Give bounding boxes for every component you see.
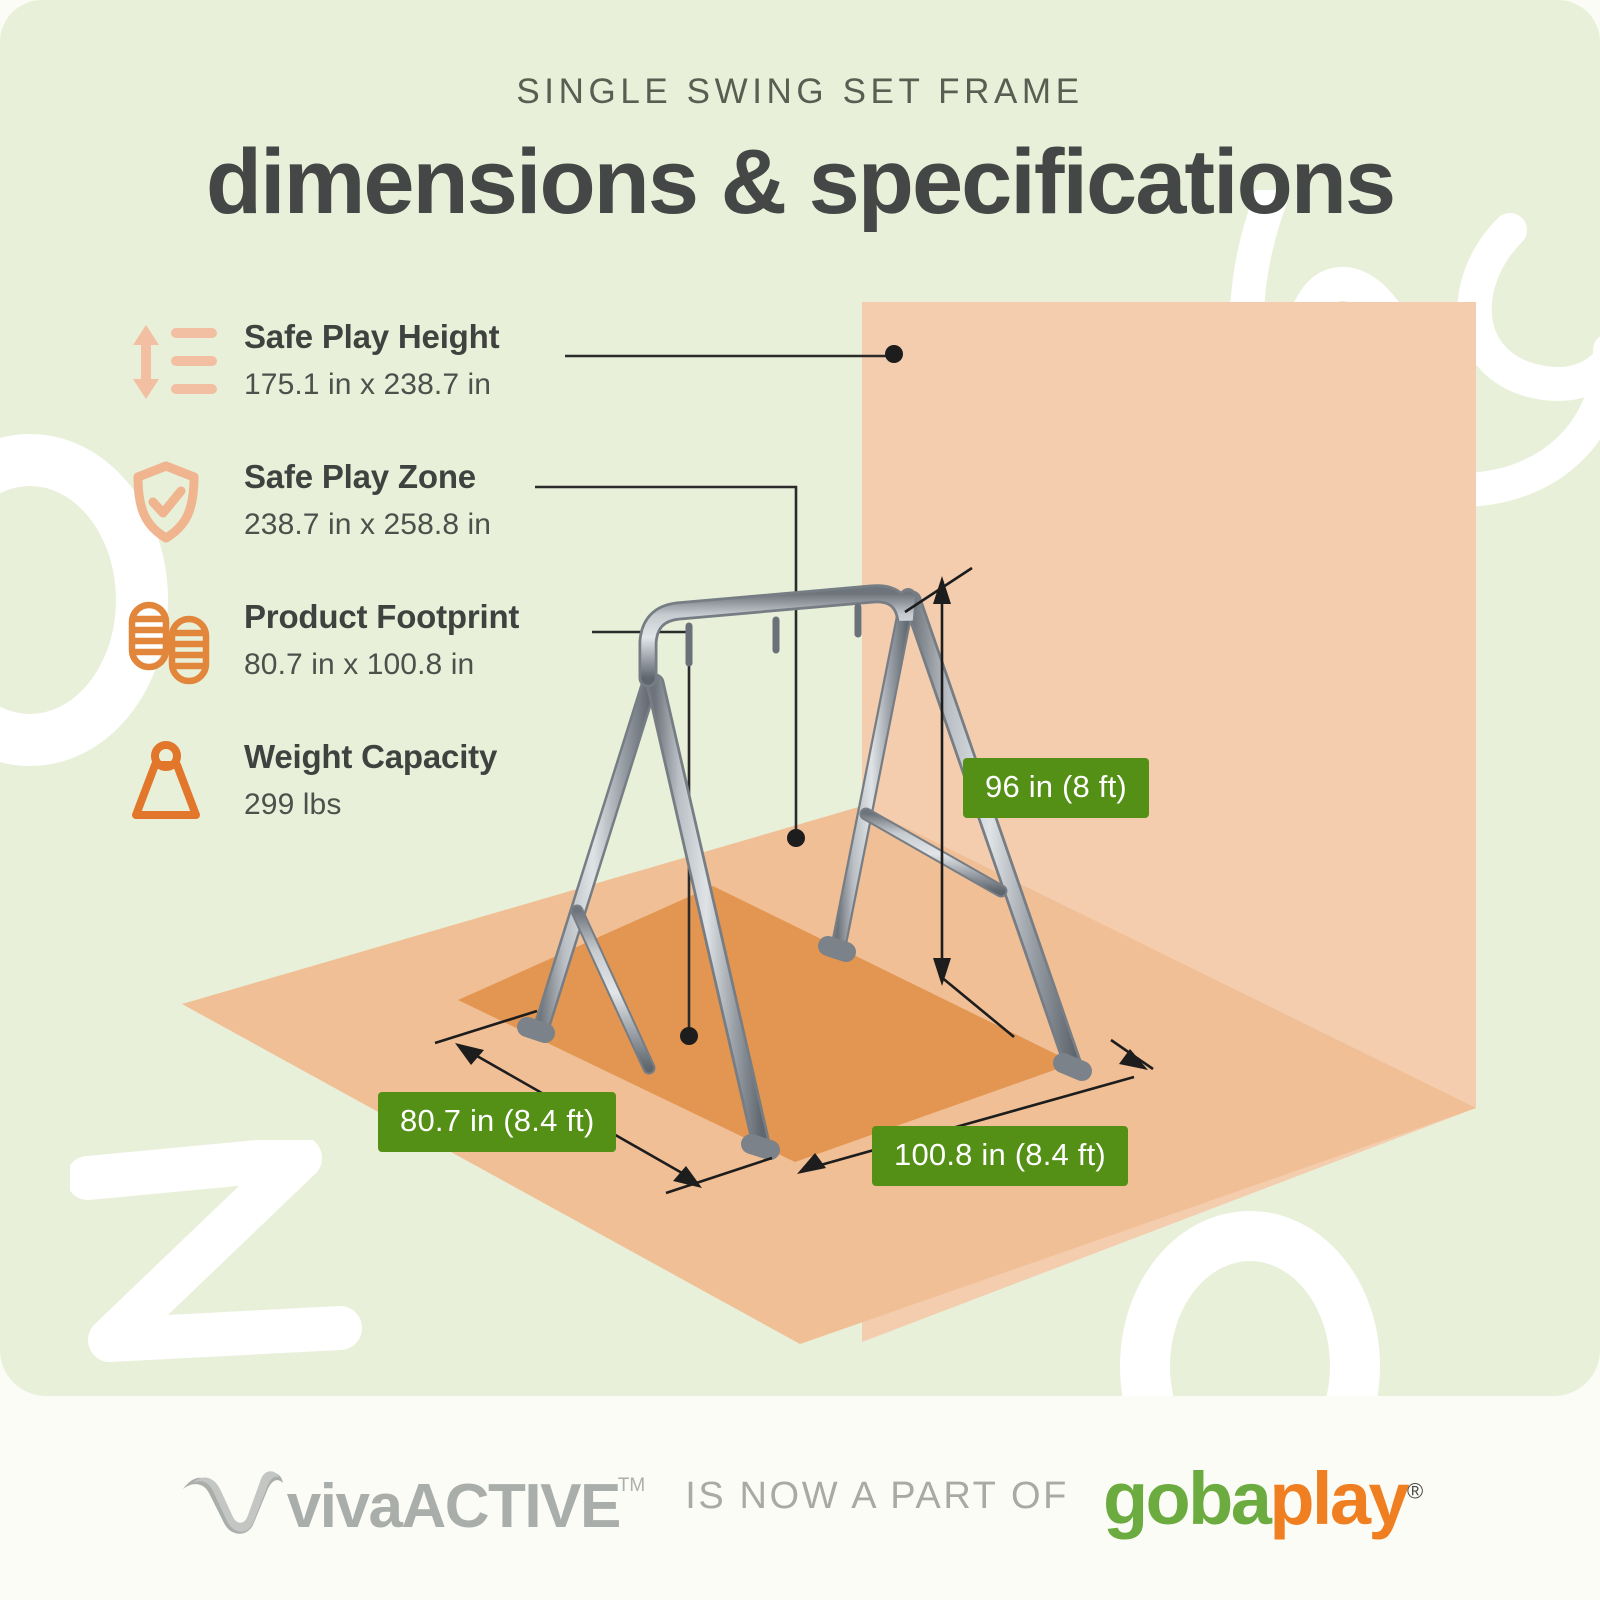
shield-check-icon	[126, 462, 218, 542]
spec-value: 299 lbs	[244, 788, 497, 822]
spec-value: 238.7 in x 258.8 in	[244, 508, 491, 542]
gobaplay-word-play: play	[1269, 1457, 1407, 1540]
vivaactive-wordmark: vivaACTIVE	[287, 1478, 620, 1537]
footer-middle-text: IS NOW A PART OF	[685, 1475, 1069, 1522]
registered-symbol: ®	[1407, 1478, 1423, 1503]
vivaactive-logo: vivaACTIVE TM	[177, 1459, 651, 1537]
vivaactive-mark-icon	[177, 1459, 287, 1537]
footprints-icon	[126, 602, 218, 682]
spec-list: Safe Play Height 175.1 in x 238.7 in Saf…	[126, 318, 686, 878]
footer-brand-bar: vivaACTIVE TM IS NOW A PART OF gobaplay®	[0, 1396, 1600, 1600]
spec-label: Weight Capacity	[244, 738, 497, 776]
spec-row-safe-play-zone: Safe Play Zone 238.7 in x 258.8 in	[126, 458, 686, 598]
weight-icon	[126, 742, 218, 822]
green-panel: SINGLE SWING SET FRAME dimensions & spec…	[0, 0, 1600, 1396]
gobaplay-word-goba: goba	[1103, 1457, 1269, 1540]
spec-label: Product Footprint	[244, 598, 519, 636]
page-title: dimensions & specifications	[0, 130, 1600, 235]
spec-label: Safe Play Height	[244, 318, 499, 356]
eyebrow-title: SINGLE SWING SET FRAME	[0, 72, 1600, 112]
spec-row-weight-capacity: Weight Capacity 299 lbs	[126, 738, 686, 878]
infographic-root: SINGLE SWING SET FRAME dimensions & spec…	[0, 0, 1600, 1600]
trademark-symbol: TM	[618, 1475, 645, 1497]
spec-value: 80.7 in x 100.8 in	[244, 648, 519, 682]
spec-value: 175.1 in x 238.7 in	[244, 368, 499, 402]
gobaplay-logo: gobaplay®	[1103, 1456, 1423, 1541]
spec-label: Safe Play Zone	[244, 458, 491, 496]
dimension-chip-depth: 100.8 in (8.4 ft)	[872, 1126, 1128, 1186]
spec-row-product-footprint: Product Footprint 80.7 in x 100.8 in	[126, 598, 686, 738]
dimension-chip-width: 80.7 in (8.4 ft)	[378, 1092, 616, 1152]
height-arrows-icon	[126, 322, 218, 402]
dimension-chip-height: 96 in (8 ft)	[963, 758, 1149, 818]
spec-row-safe-play-height: Safe Play Height 175.1 in x 238.7 in	[126, 318, 686, 458]
